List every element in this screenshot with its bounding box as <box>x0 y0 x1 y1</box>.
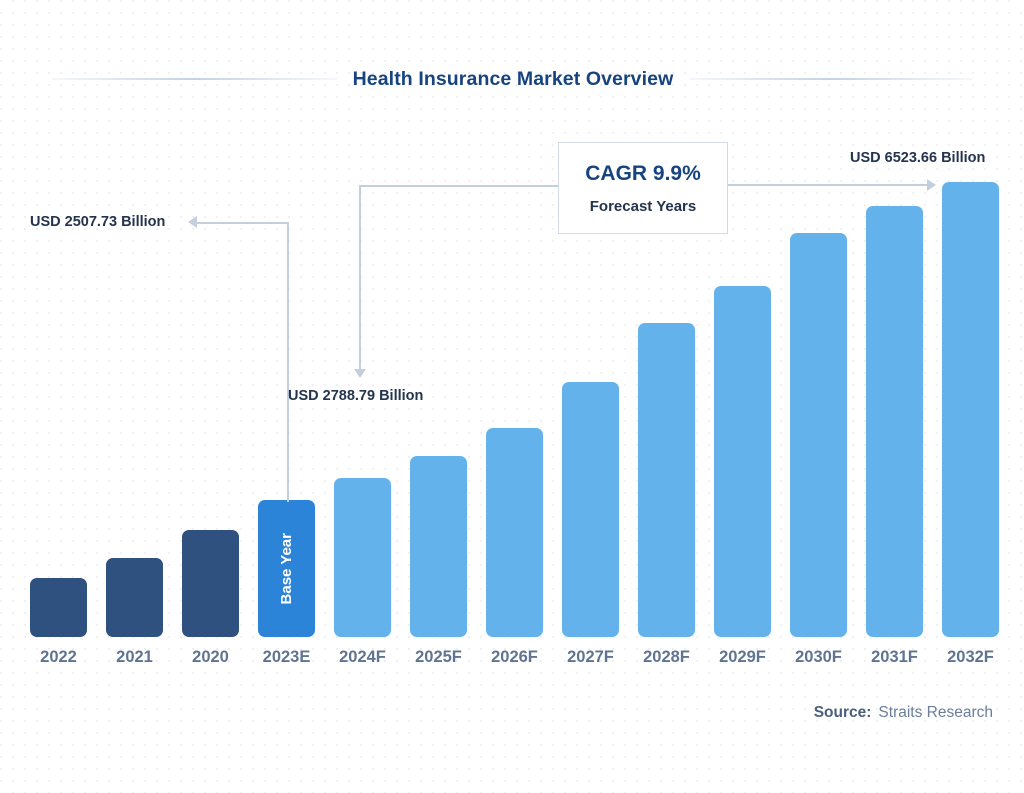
arrowhead-forecast-start <box>354 369 366 378</box>
base-year-label: Base Year <box>278 533 295 604</box>
cagr-value: CAGR 9.9% <box>585 162 701 186</box>
bar-2024F[interactable] <box>334 478 391 637</box>
bar-2023E[interactable]: Base Year <box>258 500 315 637</box>
tick-label-2032F: 2032F <box>942 648 999 667</box>
bar-2032F[interactable] <box>942 182 999 637</box>
annotation-first-forecast-value: USD 2788.79 Billion <box>288 388 423 404</box>
bar-2027F[interactable] <box>562 382 619 637</box>
bar-2021[interactable] <box>106 558 163 637</box>
tick-label-2022: 2022 <box>30 648 87 667</box>
bar-2025F[interactable] <box>410 456 467 637</box>
plot-area: Base Year 2022 2021 2020 2023E 2024F 202… <box>0 0 1024 793</box>
tick-label-2031F: 2031F <box>866 648 923 667</box>
chart-card: Health Insurance Market Overview Base Ye… <box>0 0 1024 793</box>
bar-2022[interactable] <box>30 578 87 637</box>
connector-forecast-start-vertical <box>359 185 361 369</box>
tick-label-2024F: 2024F <box>334 648 391 667</box>
cagr-callout-box: CAGR 9.9% Forecast Years <box>558 142 728 234</box>
cagr-caption: Forecast Years <box>590 198 696 215</box>
connector-base-year-vertical <box>287 222 289 502</box>
tick-label-2030F: 2030F <box>790 648 847 667</box>
arrowhead-forecast-end <box>927 179 936 191</box>
connector-forecast-end-horizontal <box>728 184 928 186</box>
connector-base-year-horizontal <box>197 222 288 224</box>
tick-label-2020: 2020 <box>182 648 239 667</box>
tick-label-2027F: 2027F <box>562 648 619 667</box>
bar-2028F[interactable] <box>638 323 695 637</box>
connector-forecast-start-horizontal <box>359 185 559 187</box>
tick-label-2025F: 2025F <box>410 648 467 667</box>
tick-label-2029F: 2029F <box>714 648 771 667</box>
arrowhead-base-year <box>188 216 197 228</box>
source-label: Source: <box>814 704 872 722</box>
annotation-final-forecast-value: USD 6523.66 Billion <box>850 150 985 166</box>
source-row: Source: Straits Research <box>814 704 993 722</box>
tick-label-2023E: 2023E <box>258 648 315 667</box>
bar-2026F[interactable] <box>486 428 543 637</box>
bar-2031F[interactable] <box>866 206 923 637</box>
tick-label-2021: 2021 <box>106 648 163 667</box>
source-value: Straits Research <box>878 704 993 722</box>
tick-label-2028F: 2028F <box>638 648 695 667</box>
bar-2020[interactable] <box>182 530 239 637</box>
tick-label-2026F: 2026F <box>486 648 543 667</box>
bar-2029F[interactable] <box>714 286 771 637</box>
bar-2030F[interactable] <box>790 233 847 637</box>
annotation-base-year-value: USD 2507.73 Billion <box>30 214 165 230</box>
